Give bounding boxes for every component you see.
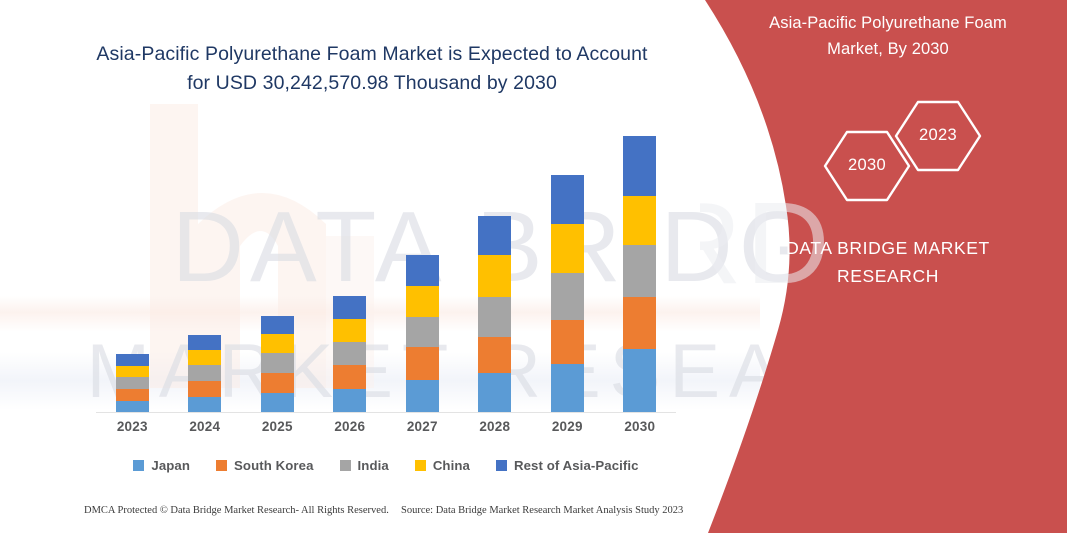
x-axis-label-2026: 2026 — [320, 419, 380, 434]
brand-panel: RD Asia-Pacific Polyurethane Foam Market… — [700, 0, 1067, 533]
bar-segment — [261, 353, 294, 373]
x-axis-label-2027: 2027 — [392, 419, 452, 434]
bar-segment — [478, 216, 511, 255]
brand-name: DATA BRIDGE MARKET RESEARCH — [733, 234, 1043, 290]
bar-2023 — [116, 354, 149, 413]
bar-segment — [333, 365, 366, 389]
footer: DMCA Protected © Data Bridge Market Rese… — [0, 505, 700, 525]
bar-segment — [623, 196, 656, 245]
bar-segment — [478, 337, 511, 373]
bar-2029 — [551, 175, 584, 413]
legend-label: Japan — [151, 458, 190, 473]
bar-segment — [406, 317, 439, 347]
bar-2026 — [333, 296, 366, 413]
chart-title-line-1: Asia-Pacific Polyurethane Foam Market is… — [96, 43, 647, 65]
bar-2024 — [188, 335, 221, 413]
bar-segment — [623, 245, 656, 297]
legend-label: China — [433, 458, 470, 473]
x-axis-label-2025: 2025 — [247, 419, 307, 434]
bar-segment — [551, 320, 584, 364]
legend-item: Rest of Asia-Pacific — [496, 458, 639, 473]
bar-segment — [406, 255, 439, 286]
brand-name-line-1: DATA BRIDGE MARKET — [786, 238, 990, 258]
legend-swatch — [340, 460, 351, 471]
legend-swatch — [496, 460, 507, 471]
footer-source: Source: Data Bridge Market Research Mark… — [401, 505, 683, 516]
legend-item: South Korea — [216, 458, 314, 473]
chart-title: Asia-Pacific Polyurethane Foam Market is… — [62, 40, 682, 98]
bar-segment — [333, 389, 366, 413]
legend-swatch — [133, 460, 144, 471]
bar-segment — [623, 297, 656, 349]
bar-segment — [116, 377, 149, 389]
infographic-canvas: DATA BRIDGE MARKET RESEARCH Asia-Pacific… — [0, 0, 1067, 533]
hexagon-label-2023: 2023 — [903, 126, 973, 145]
chart-legend: JapanSouth KoreaIndiaChinaRest of Asia-P… — [96, 454, 676, 476]
bar-segment — [551, 175, 584, 224]
footer-copyright: DMCA Protected © Data Bridge Market Rese… — [84, 505, 389, 516]
bar-segment — [478, 297, 511, 337]
bar-2030 — [623, 136, 656, 413]
legend-item: Japan — [133, 458, 190, 473]
hexagon-label-2030: 2030 — [832, 156, 902, 175]
legend-item: India — [340, 458, 389, 473]
bar-2027 — [406, 255, 439, 413]
bar-segment — [188, 397, 221, 413]
bar-segment — [261, 334, 294, 353]
chart-title-line-2: for USD 30,242,570.98 Thousand by 2030 — [187, 72, 557, 94]
brand-panel-title-line-1: Asia-Pacific Polyurethane Foam — [769, 14, 1007, 32]
bar-segment — [623, 349, 656, 413]
bar-segment — [623, 136, 656, 196]
bar-segment — [406, 380, 439, 413]
chart-plot-area — [96, 120, 676, 413]
bar-2028 — [478, 216, 511, 413]
bar-segment — [551, 364, 584, 413]
bar-segment — [551, 224, 584, 273]
brand-name-line-2: RESEARCH — [837, 266, 939, 286]
hexagon-group: 2023 2030 — [792, 98, 1012, 208]
bar-segment — [478, 373, 511, 413]
x-axis-label-2023: 2023 — [102, 419, 162, 434]
legend-label: South Korea — [234, 458, 314, 473]
x-axis-label-2024: 2024 — [175, 419, 235, 434]
bar-segment — [333, 319, 366, 342]
brand-panel-title: Asia-Pacific Polyurethane Foam Market, B… — [738, 10, 1038, 62]
x-axis-labels: 20232024202520262027202820292030 — [96, 419, 676, 443]
bar-segment — [333, 296, 366, 319]
bar-segment — [551, 273, 584, 320]
bar-segment — [116, 354, 149, 366]
x-axis-label-2030: 2030 — [610, 419, 670, 434]
legend-item: China — [415, 458, 470, 473]
bar-segment — [188, 381, 221, 397]
bar-segment — [261, 373, 294, 393]
legend-swatch — [415, 460, 426, 471]
bar-segment — [188, 365, 221, 381]
legend-label: Rest of Asia-Pacific — [514, 458, 639, 473]
bar-segment — [116, 389, 149, 401]
bar-segment — [116, 366, 149, 377]
x-axis-label-2029: 2029 — [537, 419, 597, 434]
x-axis-line — [96, 412, 676, 413]
bar-segment — [406, 286, 439, 317]
bar-2025 — [261, 316, 294, 413]
legend-swatch — [216, 460, 227, 471]
bar-segment — [188, 350, 221, 365]
bar-segment — [261, 393, 294, 413]
brand-panel-title-line-2: Market, By 2030 — [827, 40, 949, 58]
bar-segment — [333, 342, 366, 365]
x-axis-label-2028: 2028 — [465, 419, 525, 434]
legend-label: India — [358, 458, 389, 473]
bar-segment — [261, 316, 294, 334]
bar-segment — [188, 335, 221, 350]
bar-segment — [478, 255, 511, 297]
bar-segment — [406, 347, 439, 380]
hexagon-shapes-icon — [792, 98, 1012, 208]
